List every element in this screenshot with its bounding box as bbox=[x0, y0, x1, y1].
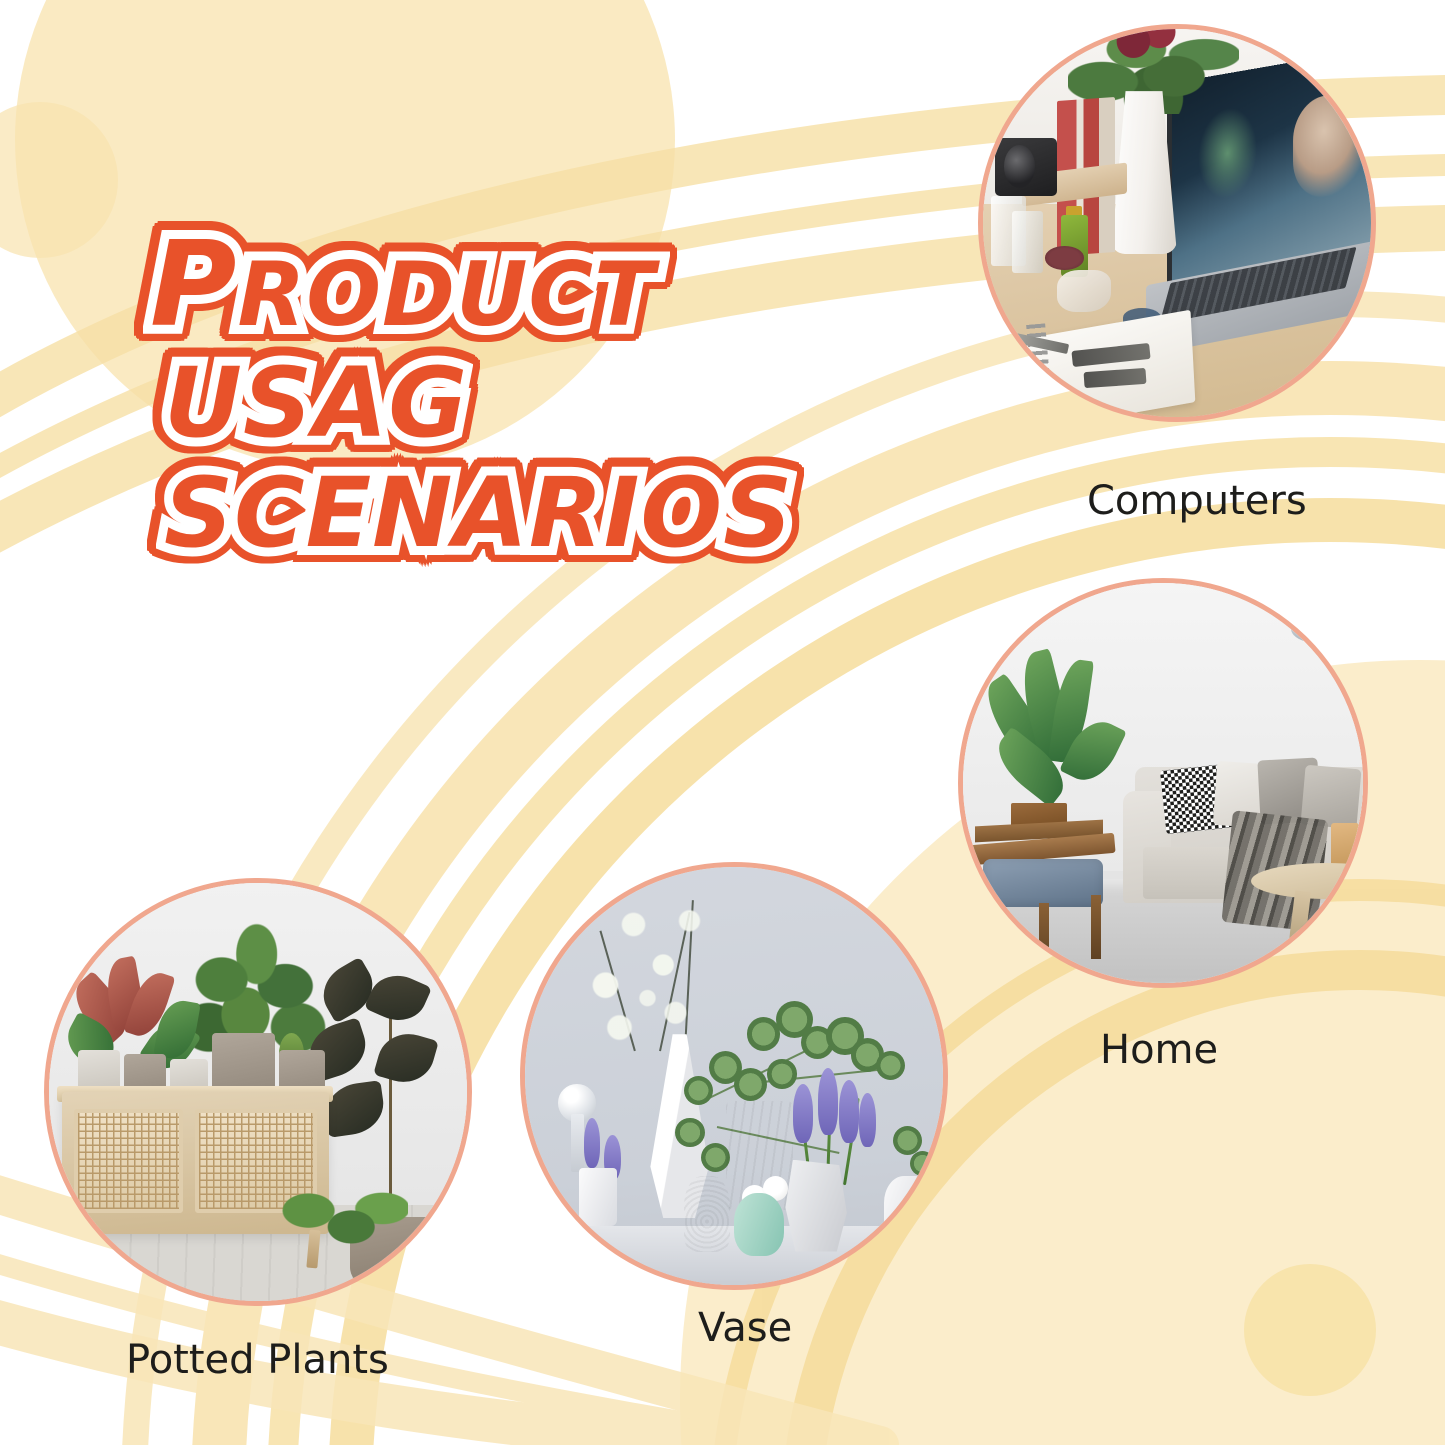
scenario-label-computers: Computers bbox=[1087, 478, 1307, 524]
infographic-canvas: PRODUCT USAG SCENARIOS bbox=[0, 0, 1445, 1445]
scenario-circle-vase[interactable] bbox=[520, 862, 948, 1290]
title-line-1: PRODUCT bbox=[150, 228, 930, 341]
living-room-icon bbox=[963, 583, 1363, 983]
scenario-circle-home[interactable] bbox=[958, 578, 1368, 988]
title-line-3: SCENARIOS bbox=[164, 467, 930, 559]
page-title: PRODUCT USAG SCENARIOS bbox=[150, 228, 930, 560]
title-line-2: USAG bbox=[164, 357, 930, 449]
scenario-circle-computers[interactable] bbox=[978, 24, 1376, 422]
scenario-circle-potted-plants[interactable] bbox=[44, 878, 472, 1306]
laptop-desk-icon bbox=[983, 29, 1371, 417]
scenario-label-vase: Vase bbox=[698, 1305, 792, 1351]
scenario-label-home: Home bbox=[1100, 1027, 1218, 1073]
scenario-label-potted-plants: Potted Plants bbox=[126, 1337, 389, 1383]
flower-vase-icon bbox=[525, 867, 943, 1285]
potted-plants-icon bbox=[49, 883, 467, 1301]
yellow-circle-small-right bbox=[1244, 1264, 1376, 1396]
